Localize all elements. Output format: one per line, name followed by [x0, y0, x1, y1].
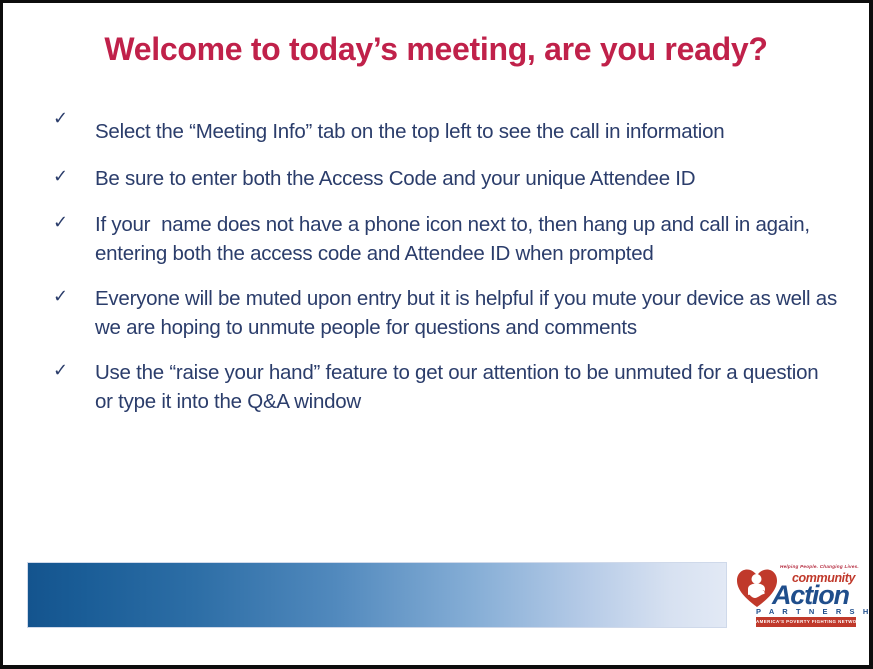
checkmark-icon: ✓: [53, 164, 68, 190]
checkmark-icon: ✓: [53, 106, 68, 132]
list-item-text: Everyone will be muted upon entry but it…: [95, 284, 843, 342]
list-item-text: Use the “raise your hand” feature to get…: [95, 358, 843, 416]
bullet-list: ✓ Select the “Meeting Info” tab on the t…: [43, 103, 843, 432]
list-item-text: Select the “Meeting Info” tab on the top…: [95, 103, 843, 160]
checkmark-icon: ✓: [53, 210, 68, 236]
list-item: ✓ Everyone will be muted upon entry but …: [43, 284, 843, 342]
checkmark-icon: ✓: [53, 358, 68, 384]
presentation-slide: Welcome to today’s meeting, are you read…: [0, 0, 873, 669]
logo-strapline: AMERICA’S POVERTY FIGHTING NETWORK: [756, 617, 856, 627]
page-title: Welcome to today’s meeting, are you read…: [3, 31, 869, 68]
list-item: ✓ Be sure to enter both the Access Code …: [43, 164, 843, 193]
list-item-text: If your name does not have a phone icon …: [95, 210, 843, 268]
checkmark-icon: ✓: [53, 284, 68, 310]
list-item-text: Be sure to enter both the Access Code an…: [95, 164, 843, 193]
logo-word-partnership: P A R T N E R S H I P: [756, 607, 873, 616]
list-item: ✓ Use the “raise your hand” feature to g…: [43, 358, 843, 416]
list-item: ✓ Select the “Meeting Info” tab on the t…: [43, 103, 843, 160]
community-action-partnership-logo: Helping People. Changing Lives. communit…: [734, 560, 862, 632]
list-item: ✓ If your name does not have a phone ico…: [43, 210, 843, 268]
footer-gradient-bar: [27, 562, 727, 628]
logo-tagline: Helping People. Changing Lives.: [780, 564, 859, 569]
